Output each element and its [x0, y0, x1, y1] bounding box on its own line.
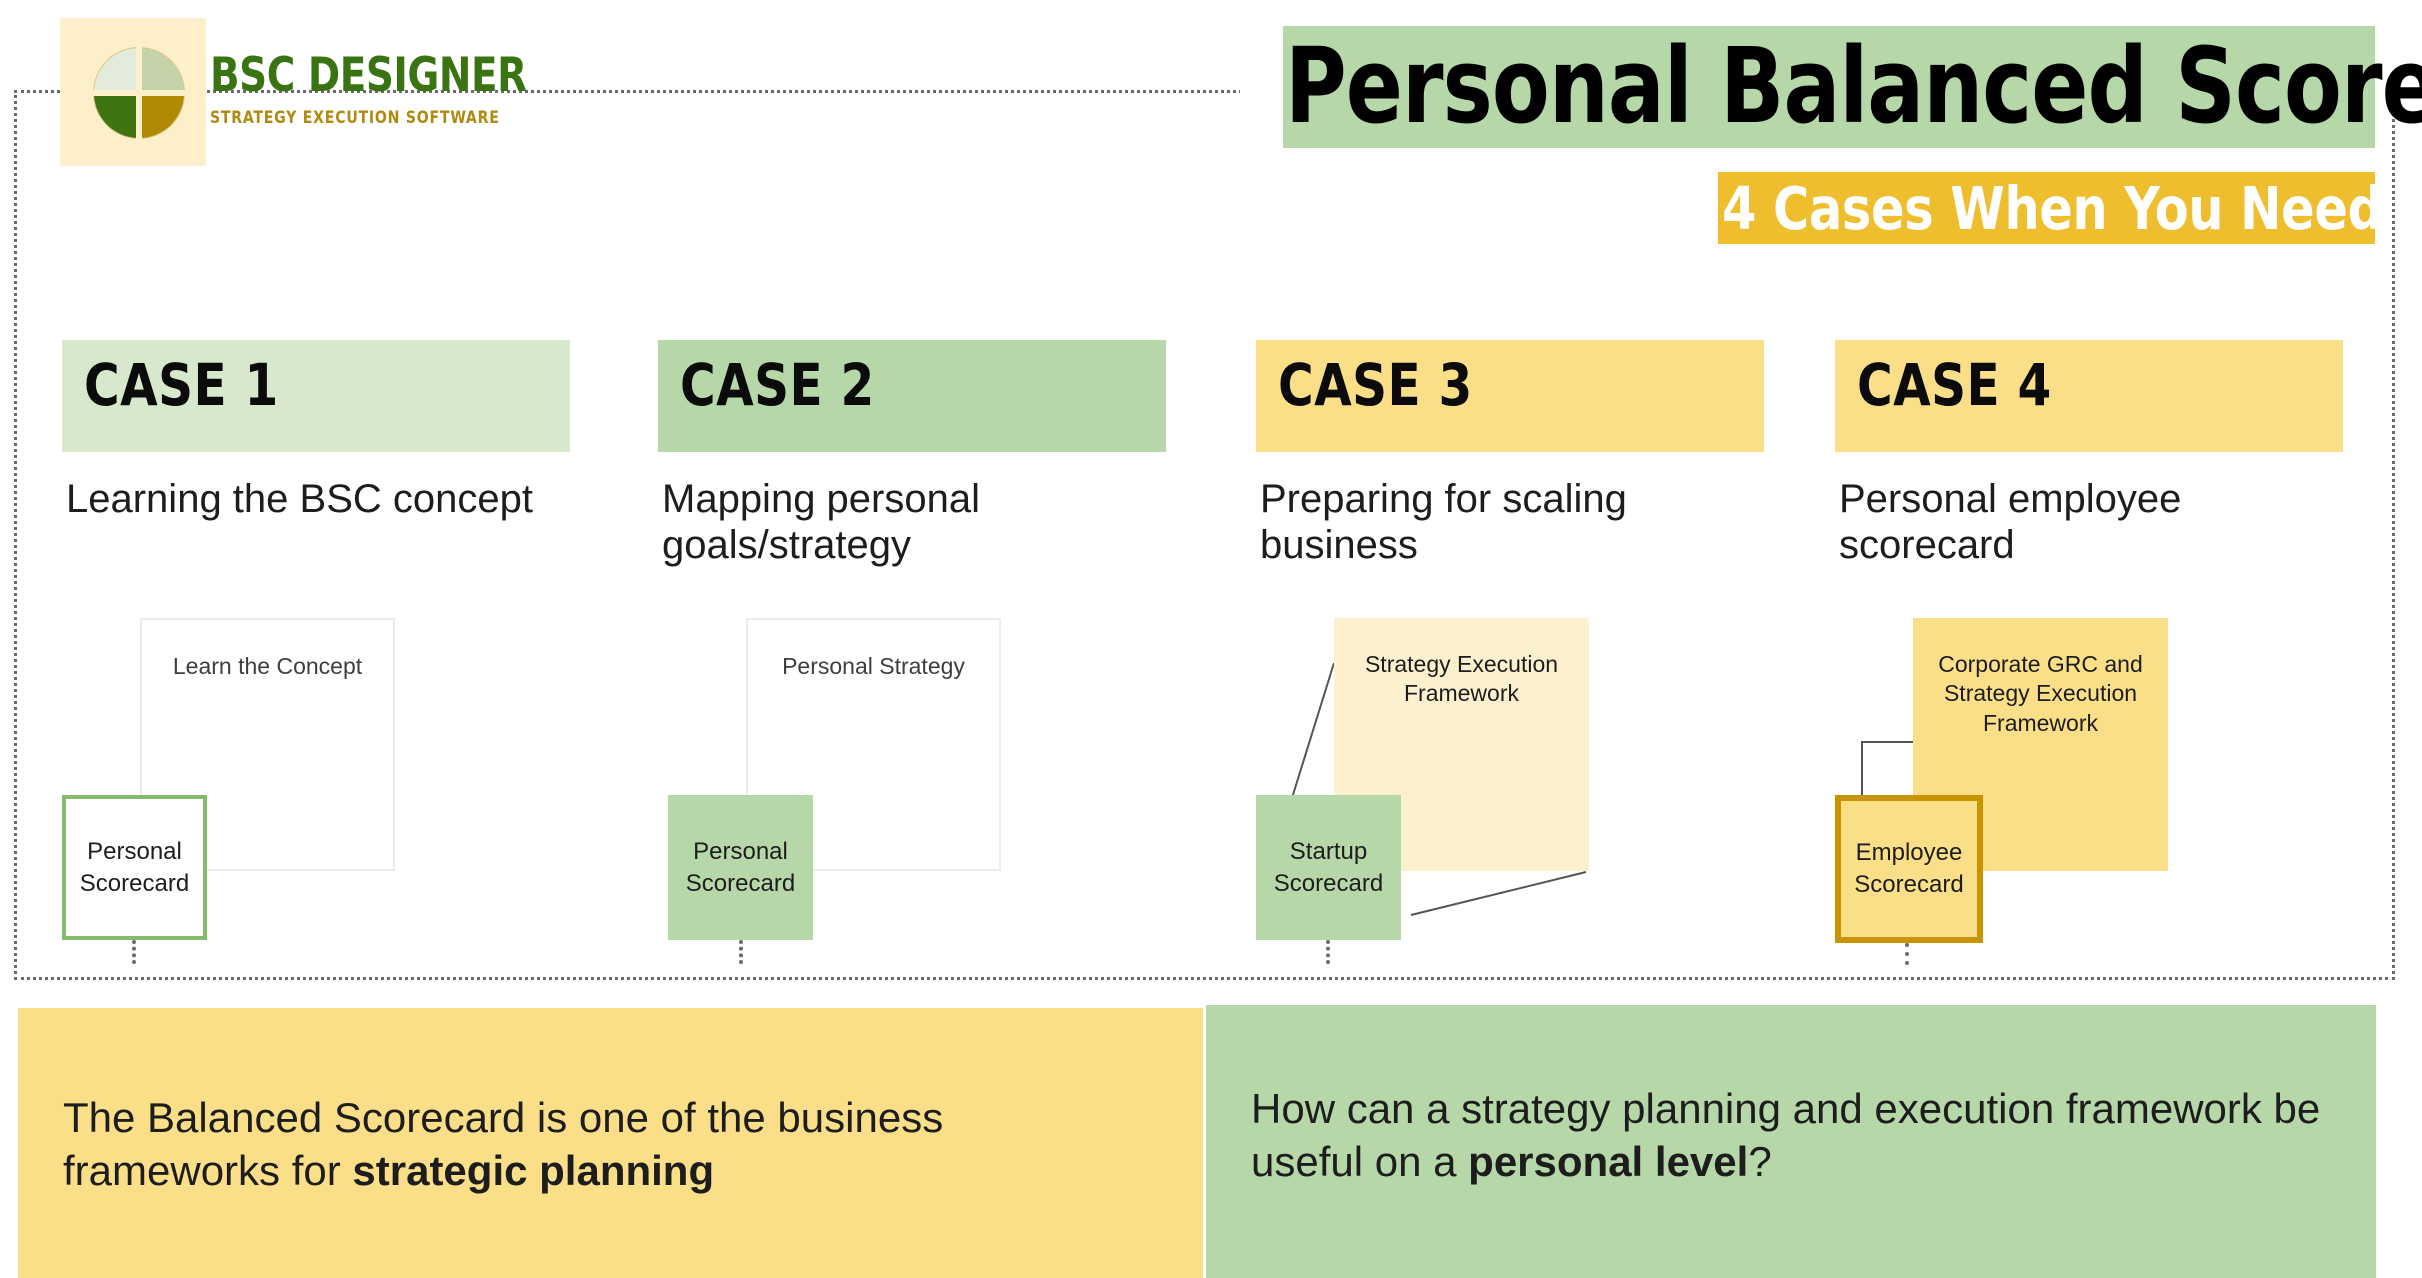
- case-stub-3: [1326, 940, 1330, 964]
- case-stub-1: [132, 940, 136, 964]
- case-art-4: Corporate GRC and Strategy Execution Fra…: [1835, 610, 2343, 960]
- case-description-2: Mapping personal goals/strategy: [662, 476, 1132, 569]
- case-description-4: Personal employee scorecard: [1839, 476, 2309, 569]
- four-quadrant-circle-icon: [92, 46, 186, 140]
- case-description-1: Learning the BSC concept: [66, 476, 536, 522]
- logo-wordmark: BSC DESIGNER STRATEGY EXECUTION SOFTWARE: [210, 52, 630, 127]
- scorecard-box-3: Startup Scorecard: [1256, 795, 1401, 940]
- logo-name: BSC DESIGNER: [210, 52, 596, 99]
- case-label-4: CASE 4: [1857, 356, 2052, 414]
- scorecard-box-2: Personal Scorecard: [668, 795, 813, 940]
- case-header-3: CASE 3: [1256, 340, 1764, 452]
- footer-left-text-bold: strategic planning: [352, 1147, 714, 1194]
- case-column-3: CASE 3 Preparing for scaling business St…: [1256, 340, 1764, 980]
- scorecard-box-label-1: Personal Scorecard: [66, 836, 203, 899]
- case-stub-4: [1905, 943, 1909, 965]
- scorecard-box-label-3: Startup Scorecard: [1256, 836, 1401, 899]
- case-art-1: Learn the Concept Personal Scorecard: [62, 610, 570, 960]
- footer-right-text-after: ?: [1748, 1138, 1771, 1185]
- case-column-2: CASE 2 Mapping personal goals/strategy P…: [658, 340, 1166, 980]
- brand-logo: BSC DESIGNER STRATEGY EXECUTION SOFTWARE: [60, 18, 206, 166]
- footer-panel-right: How can a strategy planning and executio…: [1206, 1005, 2376, 1278]
- framework-box-label-2: Personal Strategy: [748, 652, 999, 681]
- case-header-1: CASE 1: [62, 340, 570, 452]
- case-description-3: Preparing for scaling business: [1260, 476, 1730, 569]
- scorecard-box-4: Employee Scorecard: [1835, 795, 1983, 943]
- case-stub-2: [739, 940, 743, 964]
- infographic-canvas: BSC DESIGNER STRATEGY EXECUTION SOFTWARE…: [0, 0, 2422, 1278]
- case-label-2: CASE 2: [680, 356, 875, 414]
- page-subtitle: 4 Cases When You Need It: [1722, 168, 2336, 248]
- scorecard-box-label-2: Personal Scorecard: [668, 836, 813, 899]
- footer-right-text: How can a strategy planning and executio…: [1251, 1083, 2341, 1189]
- scorecard-box-label-4: Employee Scorecard: [1841, 837, 1977, 900]
- case-art-2: Personal Strategy Personal Scorecard: [658, 610, 1166, 960]
- logo-tagline: STRATEGY EXECUTION SOFTWARE: [210, 108, 609, 127]
- scorecard-box-1: Personal Scorecard: [62, 795, 207, 940]
- footer-left-text: The Balanced Scorecard is one of the bus…: [63, 1092, 1123, 1198]
- footer-right-text-before: How can a strategy planning and executio…: [1251, 1085, 2320, 1185]
- footer-right-text-bold: personal level: [1468, 1138, 1748, 1185]
- framework-box-label-3: Strategy Execution Framework: [1334, 650, 1589, 709]
- case-column-4: CASE 4 Personal employee scorecard Corpo…: [1835, 340, 2343, 980]
- case-header-4: CASE 4: [1835, 340, 2343, 452]
- page-title: Personal Balanced Scorecard: [1285, 20, 2268, 152]
- case-column-1: CASE 1 Learning the BSC concept Learn th…: [62, 340, 570, 980]
- framework-box-label-4: Corporate GRC and Strategy Execution Fra…: [1913, 650, 2168, 738]
- framework-box-label-1: Learn the Concept: [142, 652, 393, 681]
- case-art-3: Strategy Execution Framework Startup Sco…: [1256, 610, 1764, 960]
- footer-panel-left: The Balanced Scorecard is one of the bus…: [18, 1008, 1203, 1278]
- case-label-1: CASE 1: [84, 356, 279, 414]
- case-header-2: CASE 2: [658, 340, 1166, 452]
- case-label-3: CASE 3: [1278, 356, 1473, 414]
